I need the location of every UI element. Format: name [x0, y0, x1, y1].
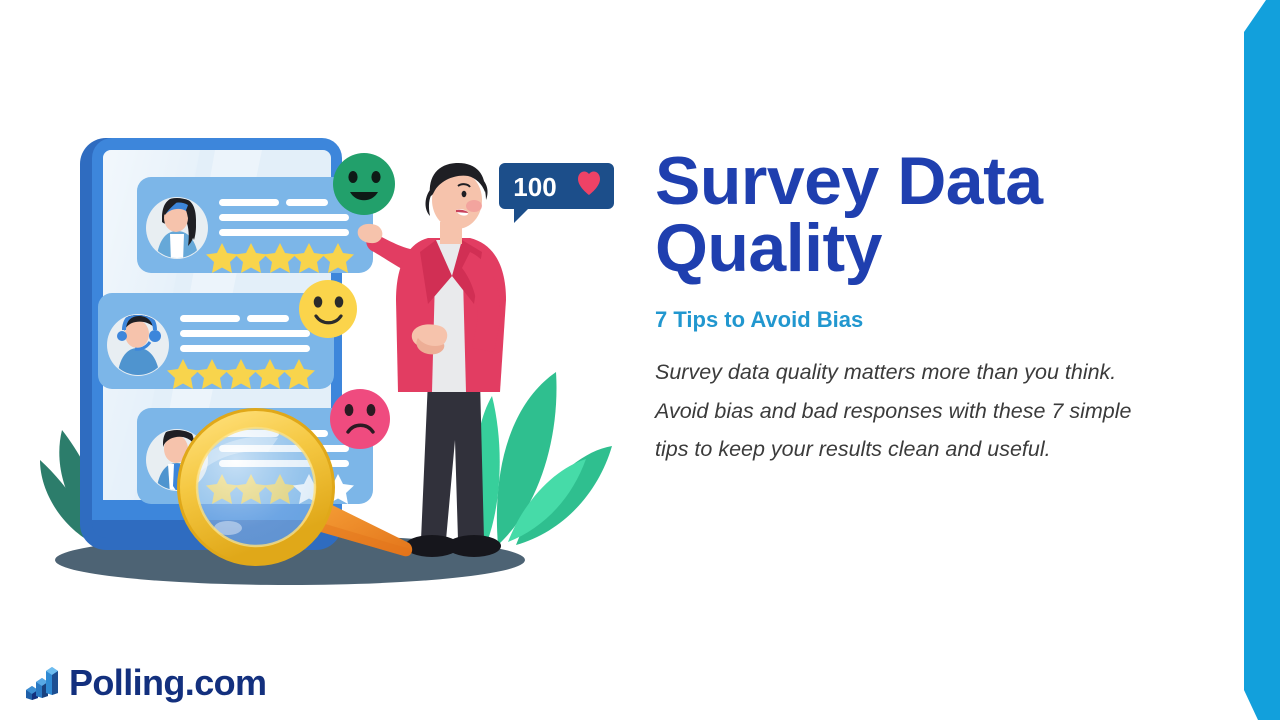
illustration-canvas: 100: [0, 0, 650, 650]
right-accent-bar: [1222, 0, 1280, 720]
hero-illustration: 100: [0, 0, 650, 650]
bar-chart-icon: [24, 660, 62, 705]
brand-logo-text: Polling.com: [69, 662, 266, 704]
page-title: Survey Data Quality: [655, 148, 1200, 281]
happy-face-icon: [333, 153, 395, 215]
hero-text-column: Survey Data Quality 7 Tips to Avoid Bias…: [655, 148, 1200, 468]
neutral-face-icon: [299, 280, 357, 338]
page-subtitle: 7 Tips to Avoid Bias: [655, 307, 1200, 333]
leaf-cluster-right: [465, 372, 612, 545]
brand-logo[interactable]: Polling.com: [24, 660, 266, 705]
review-card[interactable]: [98, 293, 334, 389]
score-badge: 100: [499, 163, 614, 223]
page-body-text: Survey data quality matters more than yo…: [655, 353, 1170, 468]
score-value: 100: [513, 172, 556, 202]
accent-bar-slab: [1222, 0, 1280, 720]
sad-face-icon: [330, 389, 390, 449]
